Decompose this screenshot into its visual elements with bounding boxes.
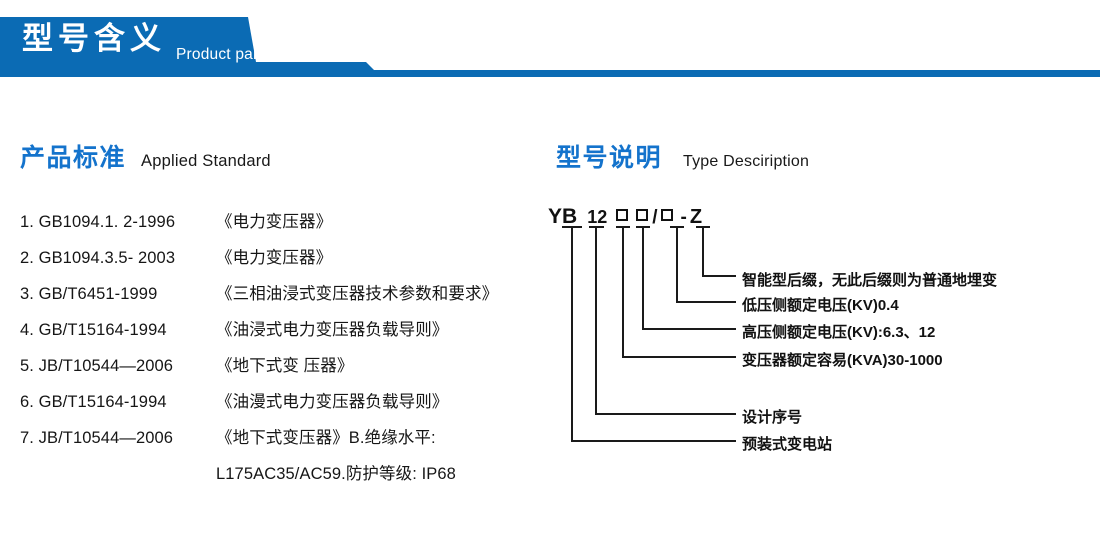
type-label-design: 设计序号: [742, 406, 802, 427]
standards-list: 1. GB1094.1. 2-1996 《电力变压器》 2. GB1094.3.…: [20, 208, 540, 496]
type-label-hv: 高压侧额定电压(KV):6.3、12: [742, 321, 935, 342]
type-description-heading-en: Type Desciription: [683, 153, 809, 171]
standard-code: 4. GB/T15164-1994: [20, 321, 216, 340]
type-label-capacity: 变压器额定容易(KVA)30-1000: [742, 349, 943, 370]
standard-title: 《电力变压器》: [216, 244, 540, 268]
list-item: 3. GB/T6451-1999 《三相油浸式变压器技术参数和要求》: [20, 280, 540, 316]
standard-title: L175AC35/AC59.防护等级: IP68: [216, 460, 540, 484]
type-label-lv: 低压侧额定电压(KV)0.4: [742, 294, 899, 315]
type-designation-diagram: YB 12 / - Z: [548, 205, 1093, 455]
applied-standard-heading-cn: 产品标准: [20, 138, 126, 174]
applied-standard-heading: 产品标准 Applied Standard: [20, 138, 271, 174]
list-item: 1. GB1094.1. 2-1996 《电力变压器》: [20, 208, 540, 244]
standard-code: 3. GB/T6451-1999: [20, 285, 216, 304]
page-banner: 型号含义 Product parameters: [0, 0, 1100, 95]
standard-title: 《三相油浸式变压器技术参数和要求》: [216, 280, 540, 304]
standard-title: 《油浸式电力变压器负载导则》: [216, 316, 540, 340]
type-description-heading: 型号说明 Type Desciription: [556, 138, 809, 174]
standard-title: 《电力变压器》: [216, 208, 540, 232]
list-item: 2. GB1094.3.5- 2003 《电力变压器》: [20, 244, 540, 280]
banner-title-en: Product parameters: [176, 46, 316, 64]
type-description-heading-cn: 型号说明: [556, 138, 662, 174]
standard-title: 《油漫式电力变压器负载导则》: [216, 388, 540, 412]
list-item: 5. JB/T10544—2006 《地下式变 压器》: [20, 352, 540, 388]
standard-title: 《地下式变压器》B.绝缘水平:: [216, 424, 540, 448]
type-label-station: 预装式变电站: [742, 433, 832, 454]
standard-code: 7. JB/T10544—2006: [20, 429, 216, 448]
list-item: 4. GB/T15164-1994 《油浸式电力变压器负载导则》: [20, 316, 540, 352]
type-label-suffix: 智能型后缀，无此后缀则为普通地埋变: [742, 269, 997, 290]
applied-standard-heading-en: Applied Standard: [141, 152, 271, 171]
standard-code: 6. GB/T15164-1994: [20, 393, 216, 412]
banner-title-cn: 型号含义: [22, 19, 166, 59]
standard-code: 1. GB1094.1. 2-1996: [20, 213, 216, 232]
list-item-continuation: L175AC35/AC59.防护等级: IP68: [20, 460, 540, 496]
standard-code: 2. GB1094.3.5- 2003: [20, 249, 216, 268]
list-item: 6. GB/T15164-1994 《油漫式电力变压器负载导则》: [20, 388, 540, 424]
list-item: 7. JB/T10544—2006 《地下式变压器》B.绝缘水平:: [20, 424, 540, 460]
standard-title: 《地下式变 压器》: [216, 352, 540, 376]
standard-code: 5. JB/T10544—2006: [20, 357, 216, 376]
